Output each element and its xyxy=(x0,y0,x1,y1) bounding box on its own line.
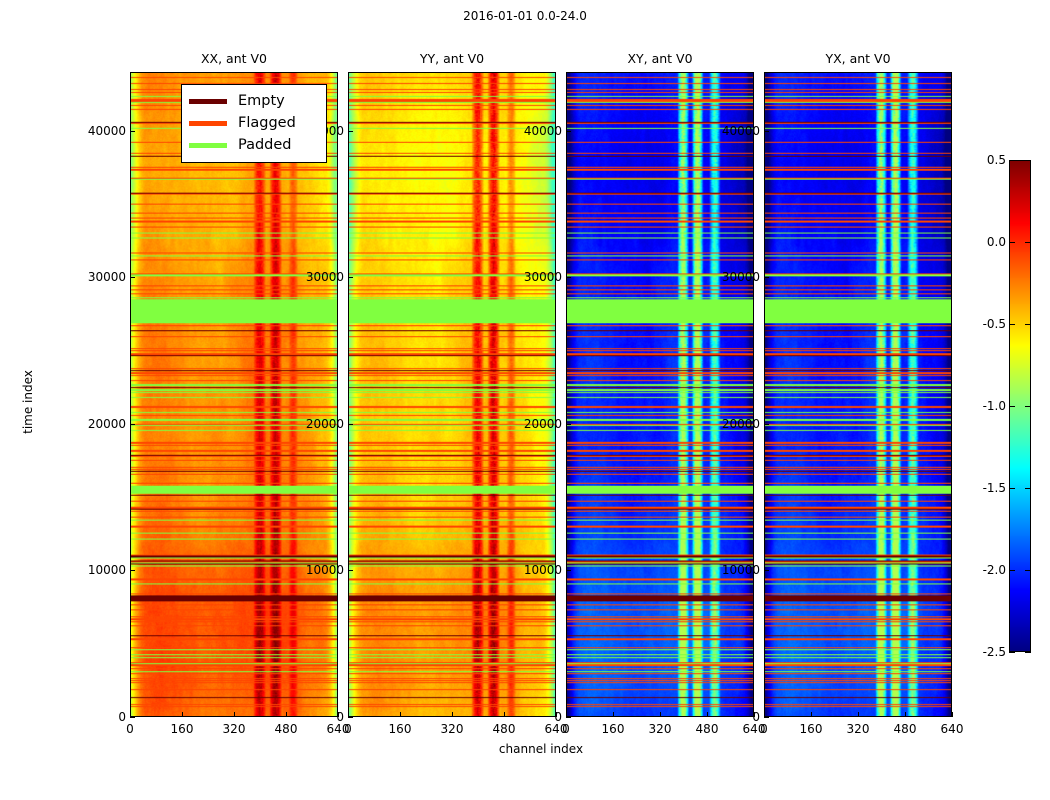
y-tick-label: 20000 xyxy=(702,417,760,431)
flag-legend: Empty Flagged Padded xyxy=(181,84,327,163)
y-tick-mark xyxy=(764,277,769,278)
colorbar-tick-mark xyxy=(1009,324,1015,325)
legend-swatch-empty xyxy=(189,99,227,104)
y-tick-mark xyxy=(348,277,353,278)
y-tick-label: 40000 xyxy=(504,124,562,138)
y-tick-mark xyxy=(130,277,135,278)
y-tick-mark xyxy=(764,131,769,132)
x-tick-label: 160 xyxy=(602,722,625,736)
x-tick-label: 160 xyxy=(800,722,823,736)
x-tick-label: 320 xyxy=(223,722,246,736)
waterfall-image-yx xyxy=(765,73,951,716)
x-tick-mark xyxy=(182,712,183,717)
x-tick-mark xyxy=(754,712,755,717)
y-tick-mark xyxy=(130,717,135,718)
y-tick-mark xyxy=(348,424,353,425)
y-axis-label: time index xyxy=(21,342,35,462)
legend-label-flagged: Flagged xyxy=(238,116,296,131)
x-tick-label: 480 xyxy=(696,722,719,736)
y-tick-mark xyxy=(130,424,135,425)
colorbar-tick-label: 0.0 xyxy=(980,235,1006,249)
colorbar-tick-mark xyxy=(1025,160,1031,161)
colorbar-tick-mark xyxy=(1009,488,1015,489)
y-tick-label: 40000 xyxy=(68,124,126,138)
y-tick-mark xyxy=(348,717,353,718)
x-tick-label: 320 xyxy=(847,722,870,736)
figure-canvas: 2016-01-01 0.0-24.0 XX, ant V0 YY, ant V… xyxy=(0,0,1050,800)
x-tick-mark xyxy=(504,712,505,717)
x-tick-mark xyxy=(858,712,859,717)
x-tick-label: 0 xyxy=(126,722,134,736)
figure-suptitle: 2016-01-01 0.0-24.0 xyxy=(0,9,1050,23)
y-tick-label: 30000 xyxy=(286,270,344,284)
colorbar-tick-label: -2.0 xyxy=(980,563,1006,577)
colorbar-tick-label: -2.5 xyxy=(980,645,1006,659)
colorbar-tick-label: -1.0 xyxy=(980,399,1006,413)
y-tick-mark xyxy=(764,570,769,571)
x-tick-label: 480 xyxy=(894,722,917,736)
legend-item-empty: Empty xyxy=(189,90,319,112)
x-tick-mark xyxy=(130,712,131,717)
legend-swatch-padded xyxy=(189,143,227,148)
colorbar-tick-mark xyxy=(1009,406,1015,407)
x-tick-label: 160 xyxy=(389,722,412,736)
y-tick-label: 10000 xyxy=(702,563,760,577)
waterfall-panel-yx[interactable] xyxy=(764,72,952,717)
legend-label-empty: Empty xyxy=(238,94,285,109)
waterfall-image-xy xyxy=(567,73,753,716)
x-tick-label: 160 xyxy=(171,722,194,736)
colorbar-tick-mark xyxy=(1025,652,1031,653)
x-tick-mark xyxy=(952,712,953,717)
colorbar-tick-mark xyxy=(1025,406,1031,407)
y-tick-label: 30000 xyxy=(68,270,126,284)
y-tick-label: 40000 xyxy=(702,124,760,138)
y-tick-label: 10000 xyxy=(504,563,562,577)
waterfall-panel-xx[interactable] xyxy=(130,72,338,717)
x-tick-mark xyxy=(556,712,557,717)
y-tick-mark xyxy=(130,131,135,132)
panel-title-xy: XY, ant V0 xyxy=(566,50,754,68)
x-tick-mark xyxy=(400,712,401,717)
y-tick-mark xyxy=(566,424,571,425)
colorbar-tick-label: -0.5 xyxy=(980,317,1006,331)
x-tick-mark xyxy=(905,712,906,717)
y-tick-label: 0 xyxy=(68,710,126,724)
x-tick-mark xyxy=(348,712,349,717)
x-tick-label: 0 xyxy=(344,722,352,736)
waterfall-image-xx xyxy=(131,73,337,716)
x-tick-label: 480 xyxy=(275,722,298,736)
legend-item-padded: Padded xyxy=(189,134,319,156)
y-tick-mark xyxy=(566,570,571,571)
y-tick-label: 20000 xyxy=(504,417,562,431)
x-tick-mark xyxy=(338,712,339,717)
x-tick-label: 640 xyxy=(941,722,964,736)
x-tick-mark xyxy=(811,712,812,717)
colorbar-tick-mark xyxy=(1009,652,1015,653)
x-tick-mark xyxy=(234,712,235,717)
colorbar-tick-mark xyxy=(1009,242,1015,243)
panel-title-yx: YX, ant V0 xyxy=(764,50,952,68)
legend-item-flagged: Flagged xyxy=(189,112,319,134)
y-tick-label: 20000 xyxy=(286,417,344,431)
x-tick-mark xyxy=(613,712,614,717)
x-tick-mark xyxy=(286,712,287,717)
y-tick-label: 30000 xyxy=(504,270,562,284)
colorbar-tick-label: 0.5 xyxy=(980,153,1006,167)
x-tick-mark xyxy=(566,712,567,717)
colorbar-tick-label: -1.5 xyxy=(980,481,1006,495)
colorbar-tick-mark xyxy=(1025,242,1031,243)
y-tick-mark xyxy=(130,570,135,571)
y-tick-label: 10000 xyxy=(286,563,344,577)
y-tick-mark xyxy=(566,277,571,278)
x-tick-label: 0 xyxy=(760,722,768,736)
y-tick-label: 30000 xyxy=(702,270,760,284)
y-tick-mark xyxy=(348,570,353,571)
y-tick-mark xyxy=(566,131,571,132)
waterfall-panel-yy[interactable] xyxy=(348,72,556,717)
x-tick-mark xyxy=(660,712,661,717)
x-tick-label: 0 xyxy=(562,722,570,736)
y-tick-label: 10000 xyxy=(68,563,126,577)
x-tick-label: 320 xyxy=(649,722,672,736)
y-tick-mark xyxy=(764,424,769,425)
panel-title-xx: XX, ant V0 xyxy=(130,50,338,68)
x-tick-label: 320 xyxy=(441,722,464,736)
legend-swatch-flagged xyxy=(189,121,227,126)
panel-title-yy: YY, ant V0 xyxy=(348,50,556,68)
colorbar-tick-mark xyxy=(1025,324,1031,325)
x-tick-mark xyxy=(452,712,453,717)
colorbar-tick-mark xyxy=(1009,160,1015,161)
colorbar-tick-mark xyxy=(1025,488,1031,489)
y-tick-mark xyxy=(348,131,353,132)
colorbar-tick-mark xyxy=(1025,570,1031,571)
legend-label-padded: Padded xyxy=(238,138,292,153)
y-tick-label: 20000 xyxy=(68,417,126,431)
y-tick-mark xyxy=(566,717,571,718)
x-tick-mark xyxy=(707,712,708,717)
waterfall-image-yy xyxy=(349,73,555,716)
colorbar-tick-mark xyxy=(1009,570,1015,571)
x-axis-label: channel index xyxy=(130,742,952,756)
waterfall-panel-xy[interactable] xyxy=(566,72,754,717)
x-tick-mark xyxy=(764,712,765,717)
y-tick-mark xyxy=(764,717,769,718)
x-tick-label: 480 xyxy=(493,722,516,736)
